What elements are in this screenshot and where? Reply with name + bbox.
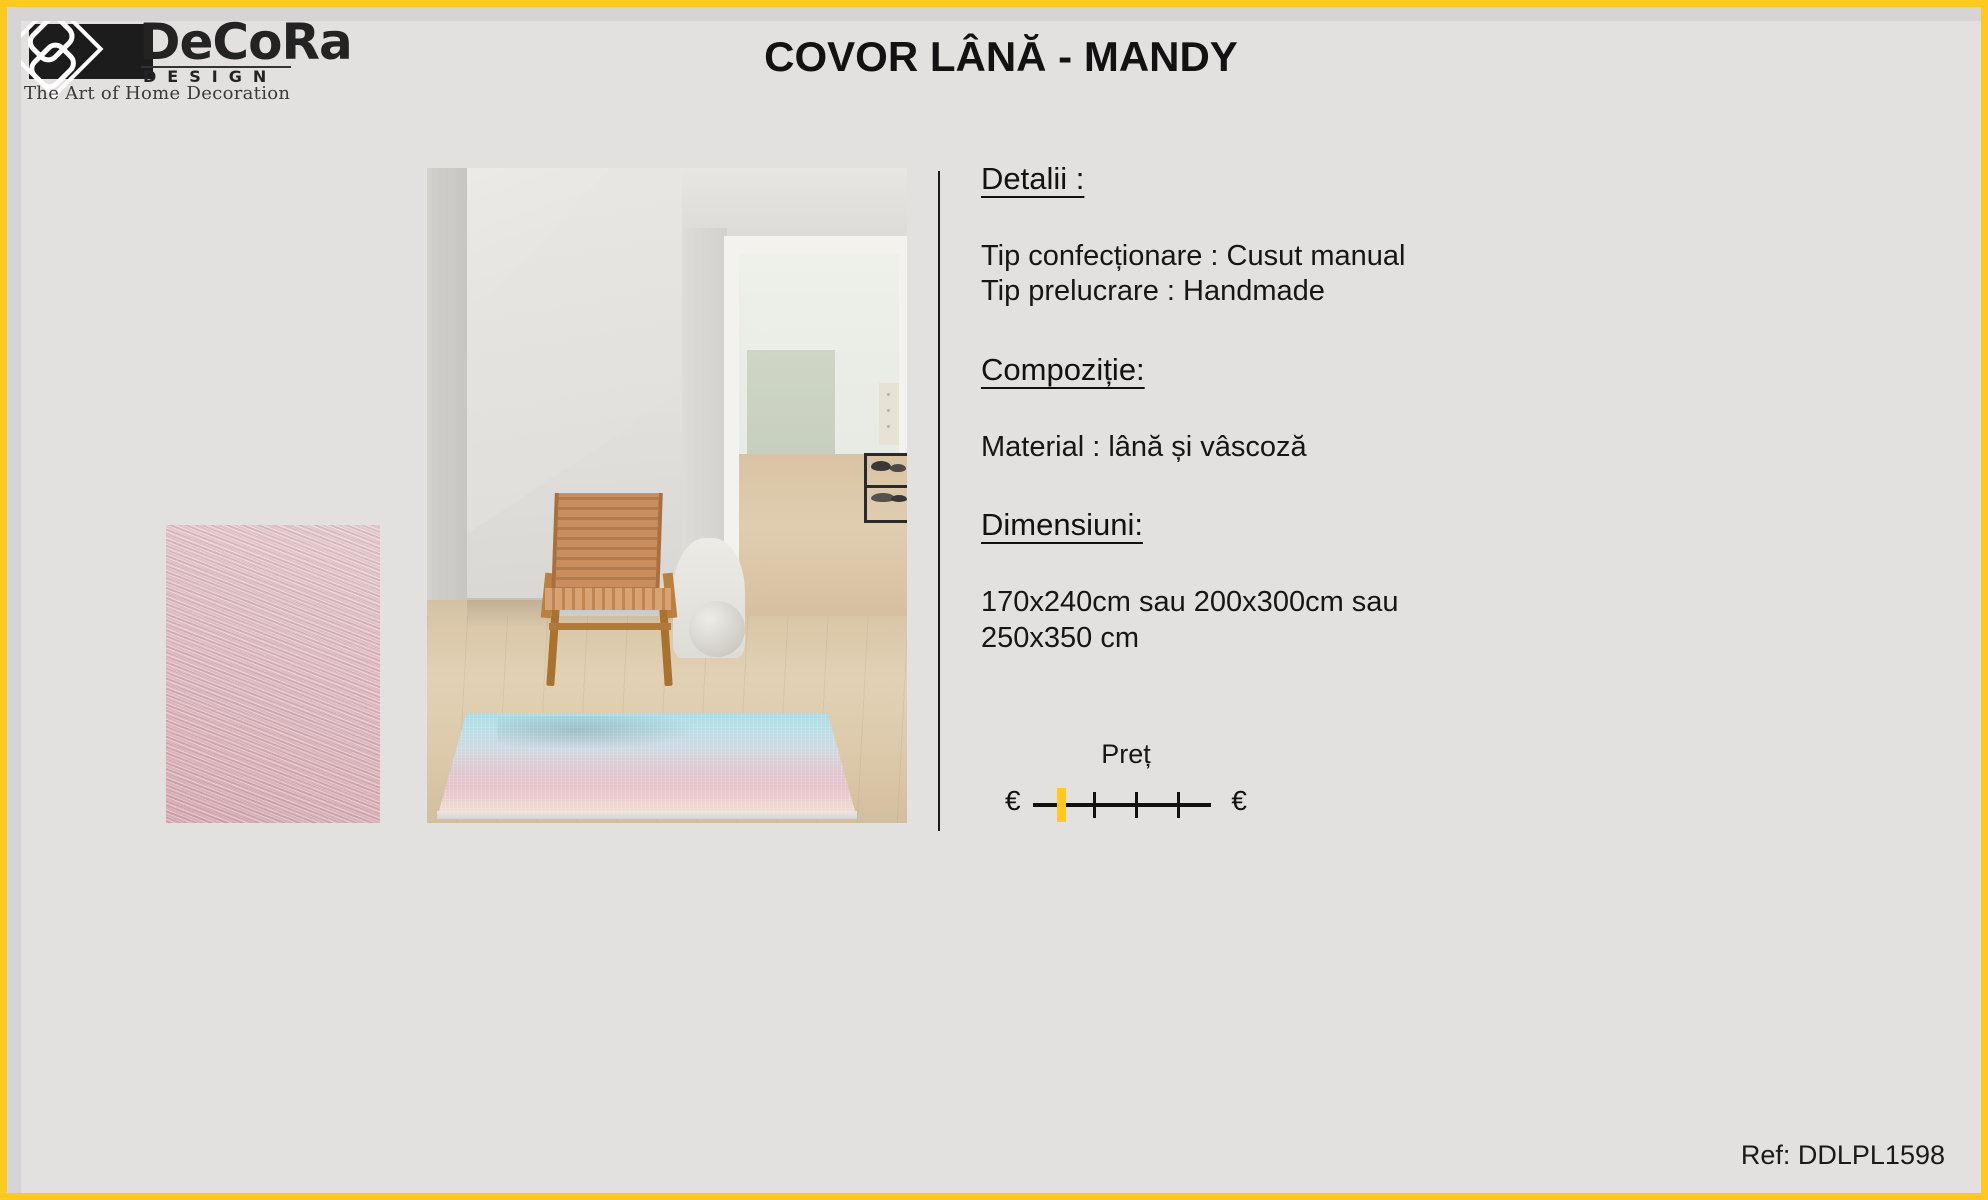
euro-symbol-low: € [1005, 787, 1021, 815]
photo-chair-shadow [497, 716, 697, 750]
dimensions-value-line1: 170x240cm sau 200x300cm sau [981, 585, 1931, 620]
composition-heading: Compoziție: [981, 352, 1931, 388]
panel-dot [887, 409, 890, 412]
price-label: Preț [981, 739, 1271, 770]
spacer [981, 543, 1931, 585]
photo-bowl [891, 495, 907, 502]
price-level-marker[interactable] [1057, 788, 1066, 822]
photo-chair-seat [545, 588, 671, 610]
details-panel: Detalii : Tip confecționare : Cusut manu… [981, 161, 1931, 656]
dimensions-heading: Dimensiuni: [981, 507, 1931, 543]
product-reference: Ref: DDLPL1598 [1741, 1140, 1945, 1171]
photo-bowl [871, 461, 891, 471]
photo-shelf-shelf [864, 485, 907, 488]
price-tick [1093, 792, 1096, 818]
photo-chair-rail [549, 623, 671, 630]
panel-dot [887, 425, 890, 428]
detail-line-confectionare: Tip confecționare : Cusut manual [981, 239, 1931, 274]
price-scale[interactable]: € € [1005, 784, 1247, 824]
price-tick [1135, 792, 1138, 818]
page-canvas: DeCoRa DESIGN The Art of Home Decoration… [21, 21, 1981, 1193]
composition-value: Material : lână și vâscoză [981, 430, 1931, 465]
spacer [981, 465, 1931, 507]
room-scene-photo [427, 168, 907, 823]
photo-chair-back [551, 493, 663, 597]
spacer [981, 197, 1931, 239]
dimensions-value-line2: 250x350 cm [981, 621, 1931, 656]
spacer [981, 388, 1931, 430]
price-tick [1177, 792, 1180, 818]
photo-wall-panel [879, 383, 899, 445]
product-sheet-page: DeCoRa DESIGN The Art of Home Decoration… [0, 0, 1988, 1200]
photo-rug-fringe [437, 811, 857, 819]
price-indicator: Preț € € [981, 739, 1271, 824]
euro-symbol-high: € [1231, 787, 1247, 815]
photo-stone-ball [689, 601, 745, 657]
details-heading: Detalii : [981, 161, 1931, 197]
vertical-divider [938, 171, 940, 831]
logo-tagline-text: The Art of Home Decoration [24, 83, 290, 104]
detail-line-prelucrare: Tip prelucrare : Handmade [981, 274, 1931, 309]
panel-dot [887, 393, 890, 396]
rug-color-swatch [166, 525, 380, 823]
page-title: COVOR LÂNĂ - MANDY [21, 33, 1981, 81]
photo-bowl [890, 464, 906, 472]
spacer [981, 310, 1931, 352]
